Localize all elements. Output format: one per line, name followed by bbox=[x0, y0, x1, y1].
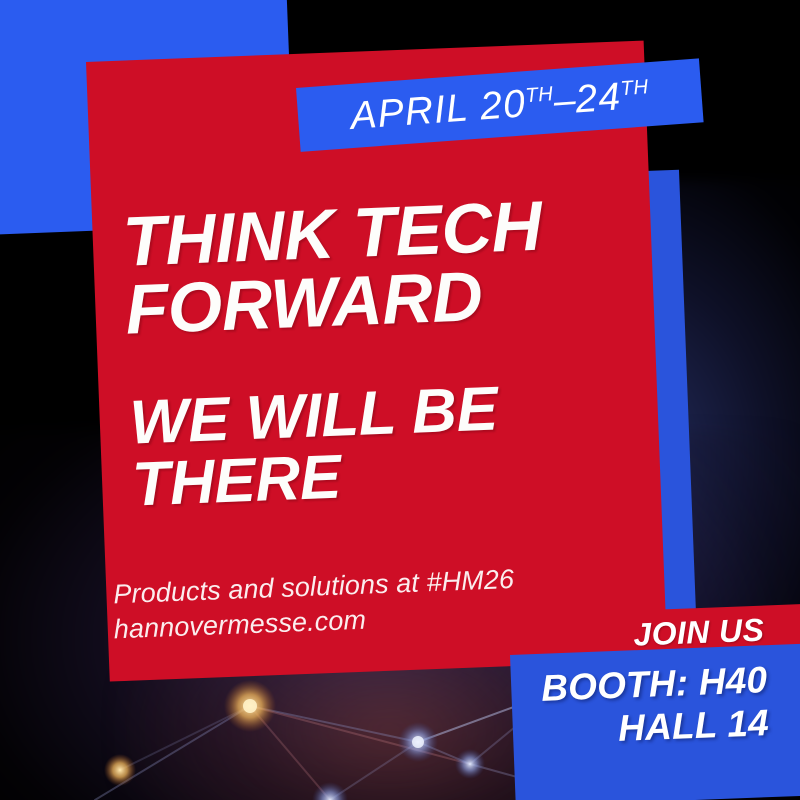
booth-details: BOOTH: H40 HALL 14 bbox=[540, 659, 769, 753]
promo-poster: THINK TECH FORWARD WE WILL BE THERE Prod… bbox=[0, 0, 800, 800]
subheadline: WE WILL BE THERE bbox=[129, 373, 643, 516]
booth-panel: BOOTH: H40 HALL 14 bbox=[510, 642, 800, 800]
date-text: APRIL 20TH–24TH bbox=[349, 75, 650, 136]
fineprint: Products and solutions at #HM26 hannover… bbox=[112, 557, 654, 647]
hall-number: HALL 14 bbox=[542, 702, 770, 754]
date-end-day: 24 bbox=[574, 75, 623, 121]
date-start-ordinal: TH bbox=[525, 83, 555, 107]
date-month: APRIL bbox=[349, 86, 470, 138]
date-separator: – bbox=[552, 78, 577, 122]
date-start-day: 20 bbox=[479, 82, 528, 128]
headline: THINK TECH FORWARD bbox=[122, 189, 637, 344]
date-end-ordinal: TH bbox=[620, 76, 650, 100]
